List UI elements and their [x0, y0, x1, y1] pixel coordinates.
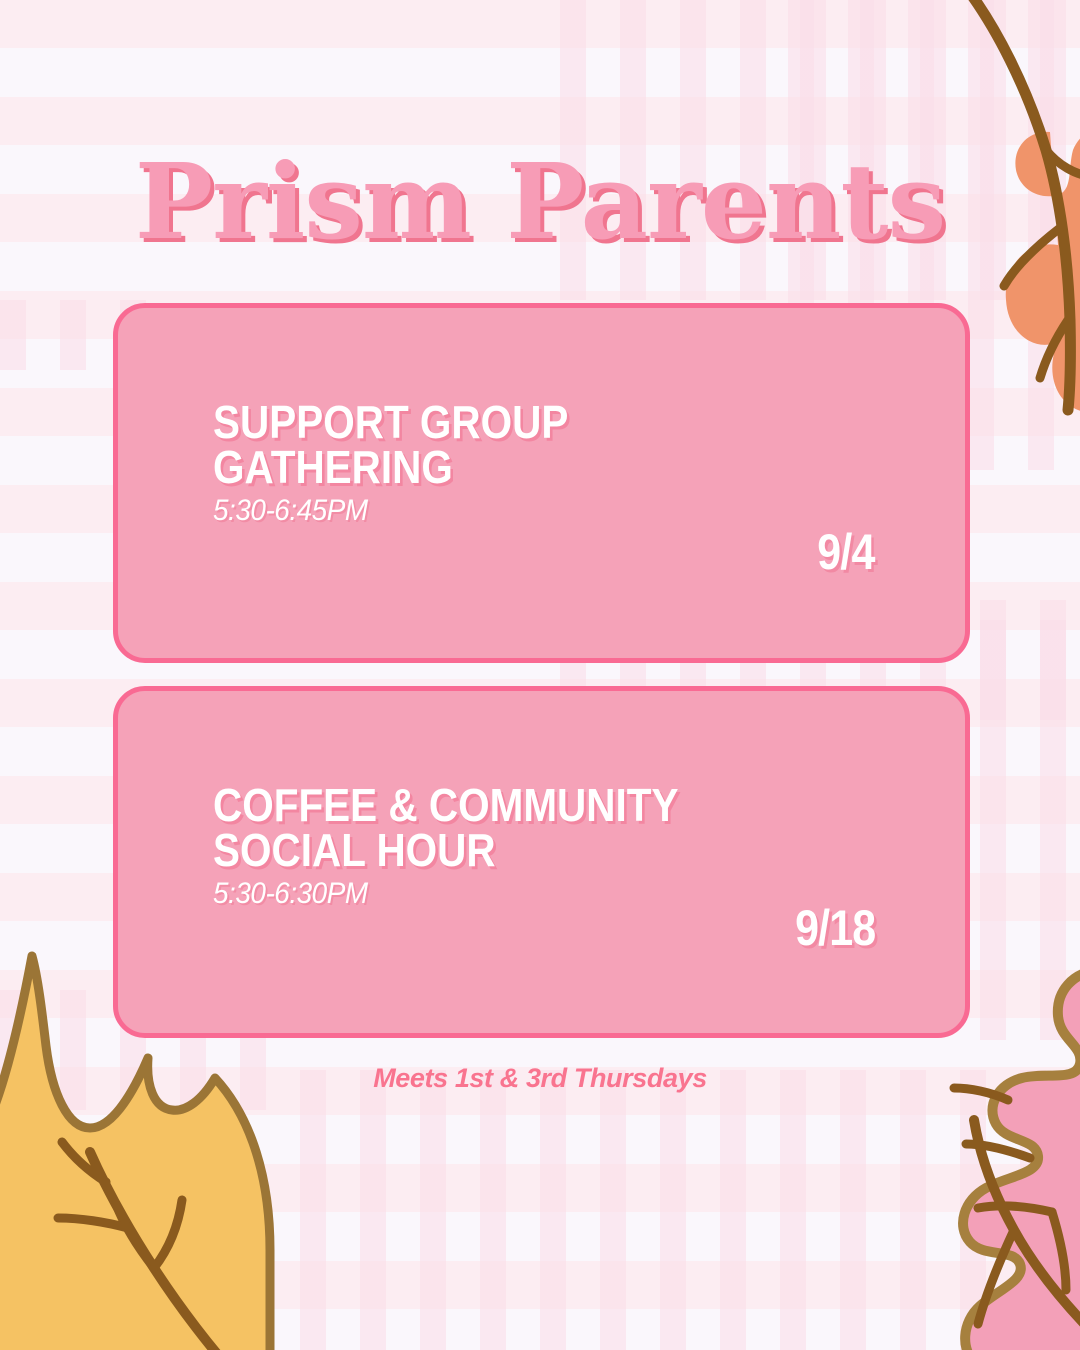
event-card[interactable]: COFFEE & COMMUNITY SOCIAL HOUR 5:30-6:30…	[113, 686, 970, 1038]
schedule-note: Meets 1st & 3rd Thursdays	[0, 1063, 1080, 1094]
event-name: SUPPORT GROUP GATHERING	[213, 400, 854, 490]
event-card[interactable]: SUPPORT GROUP GATHERING 5:30-6:45PM 9/4	[113, 303, 970, 663]
event-date: 9/4	[818, 523, 875, 581]
event-card-body: COFFEE & COMMUNITY SOCIAL HOUR 5:30-6:30…	[213, 783, 941, 911]
background-vertical-stripes-region	[980, 620, 1080, 1040]
poster-canvas: Prism Parents SUPPORT GROUP GATHERING 5:…	[0, 0, 1080, 1350]
event-card-body: SUPPORT GROUP GATHERING 5:30-6:45PM	[213, 400, 941, 528]
background-vertical-stripes-region	[300, 1070, 1080, 1350]
event-time: 5:30-6:30PM	[213, 877, 890, 911]
event-date: 9/18	[795, 899, 875, 957]
event-time: 5:30-6:45PM	[213, 494, 890, 528]
event-name: COFFEE & COMMUNITY SOCIAL HOUR	[213, 783, 854, 873]
page-title: Prism Parents	[0, 150, 1080, 254]
